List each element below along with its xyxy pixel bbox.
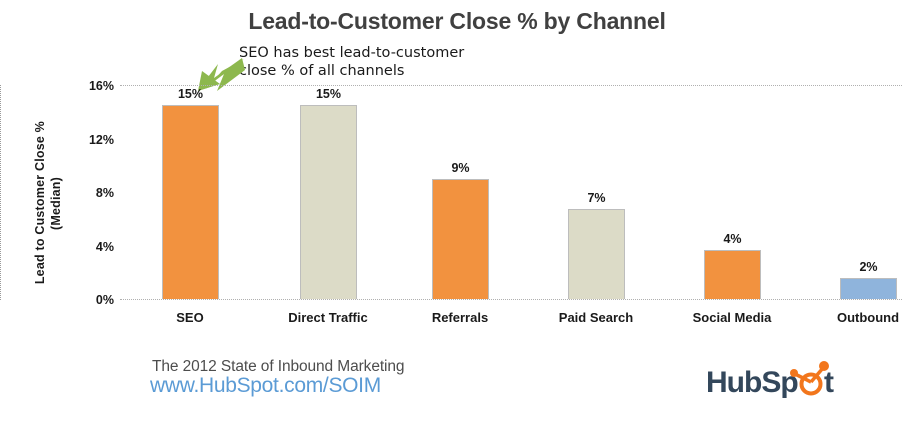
bar-referrals[interactable] [432,179,489,299]
bar-value-paid-search: 7% [556,191,637,205]
x-label-direct-traffic: Direct Traffic [268,310,388,325]
y-tick-0: 0% [70,293,114,307]
bar-seo[interactable] [162,105,219,299]
x-label-referrals: Referrals [400,310,520,325]
bar-paid-search[interactable] [568,209,625,299]
gridline-0 [120,299,902,300]
gridline-4 [120,246,902,247]
hubspot-logo-text-b: t [824,366,833,400]
gridline-8 [120,192,902,193]
chart-container: Lead-to-Customer Close % by Channel SEO … [0,0,914,426]
hubspot-logo: HubSp t [706,364,846,404]
bar-value-direct-traffic: 15% [288,87,369,101]
x-label-outbound: Outbound [808,310,914,325]
y-tick-3: 12% [70,133,114,147]
hubspot-logo-text-a: HubSp [706,366,798,400]
bar-value-outbound: 2% [828,260,909,274]
x-label-social-media: Social Media [672,310,792,325]
plot-area: 15% 15% 9% 7% 4% 2% [120,85,902,299]
footer-url-link[interactable]: www.HubSpot.com/SOIM [150,374,381,398]
bar-value-seo: 15% [150,87,231,101]
bar-outbound[interactable] [840,278,897,299]
bar-direct-traffic[interactable] [300,105,357,299]
x-label-paid-search: Paid Search [536,310,656,325]
gridline-12 [120,139,902,140]
y-axis-tick-labels: 0% 4% 8% 12% 16% [64,85,114,299]
bar-value-social-media: 4% [692,232,773,246]
y-axis-title-line-2: (Median) [49,177,63,230]
bar-social-media[interactable] [704,250,761,299]
gridline-16 [120,85,902,86]
bar-value-referrals: 9% [420,161,501,175]
chart-title: Lead-to-Customer Close % by Channel [0,8,914,35]
y-axis-line [0,85,1,300]
y-tick-2: 8% [70,186,114,200]
y-tick-4: 16% [70,79,114,93]
y-axis-title-line-1: Lead to Customer Close % [33,121,47,284]
x-label-seo: SEO [130,310,250,325]
chart-annotation-text: SEO has best lead-to-customer close % of… [239,44,464,80]
x-axis-tick-labels: SEO Direct Traffic Referrals Paid Search… [120,310,902,332]
y-tick-1: 4% [70,240,114,254]
